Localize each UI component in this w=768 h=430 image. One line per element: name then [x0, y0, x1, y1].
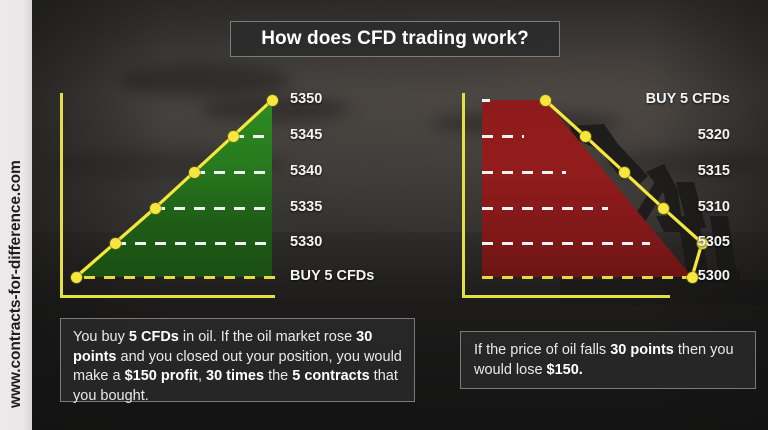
price-line-rising — [0, 0, 430, 310]
price-line-falling — [430, 0, 768, 310]
data-point[interactable] — [110, 238, 121, 249]
y-axis-tick-label: 5320 — [600, 127, 730, 143]
data-point[interactable] — [267, 95, 278, 106]
data-point[interactable] — [150, 203, 161, 214]
y-axis-line — [462, 93, 465, 298]
caption-profit-text: You buy 5 CFDs in oil. If the oil market… — [73, 328, 402, 406]
y-axis-line — [60, 93, 63, 298]
caption-run: You buy — [73, 329, 129, 345]
x-axis-line — [462, 295, 670, 298]
chart-profit-rising-market: 53505345534053355330BUY 5 CFDs — [0, 0, 430, 310]
caption-loss-text: If the price of oil falls 30 points then… — [474, 341, 742, 380]
data-point[interactable] — [228, 131, 239, 142]
y-axis-tick-label: 5300 — [600, 268, 730, 284]
caption-run: in oil. If the oil market rose — [179, 329, 356, 345]
data-point[interactable] — [71, 272, 82, 283]
chart-loss-falling-market: BUY 5 CFDs53205315531053055300 — [430, 0, 768, 310]
caption-profit: You buy 5 CFDs in oil. If the oil market… — [60, 318, 415, 402]
caption-run: If the price of oil falls — [474, 342, 610, 358]
caption-emphasis: $150. — [547, 362, 583, 378]
y-axis-tick-label: 5315 — [600, 163, 730, 179]
caption-run: the — [264, 368, 292, 384]
y-axis-tick-label: 5345 — [290, 127, 322, 143]
y-axis-tick-label: 5335 — [290, 199, 322, 215]
caption-loss: If the price of oil falls 30 points then… — [460, 331, 756, 389]
y-axis-tick-label: 5310 — [600, 199, 730, 215]
caption-run: , — [198, 368, 206, 384]
caption-emphasis: 5 contracts — [292, 368, 369, 384]
y-axis-tick-label: 5350 — [290, 91, 322, 107]
y-axis-tick-label: 5330 — [290, 234, 322, 250]
x-axis-line — [60, 295, 275, 298]
caption-emphasis: $150 profit — [125, 368, 198, 384]
data-point[interactable] — [580, 131, 591, 142]
y-axis-tick-label: 5305 — [600, 234, 730, 250]
y-axis-tick-label: BUY 5 CFDs — [600, 91, 730, 107]
price-polyline — [76, 100, 272, 277]
data-point[interactable] — [540, 95, 551, 106]
caption-emphasis: 30 points — [610, 342, 674, 358]
data-point[interactable] — [189, 167, 200, 178]
y-axis-tick-label: 5340 — [290, 163, 322, 179]
y-axis-tick-label: BUY 5 CFDs — [290, 268, 374, 284]
infographic-root: www.contracts-for-difference.com How doe… — [0, 0, 768, 430]
caption-emphasis: 5 CFDs — [129, 329, 179, 345]
caption-emphasis: 30 times — [206, 368, 264, 384]
